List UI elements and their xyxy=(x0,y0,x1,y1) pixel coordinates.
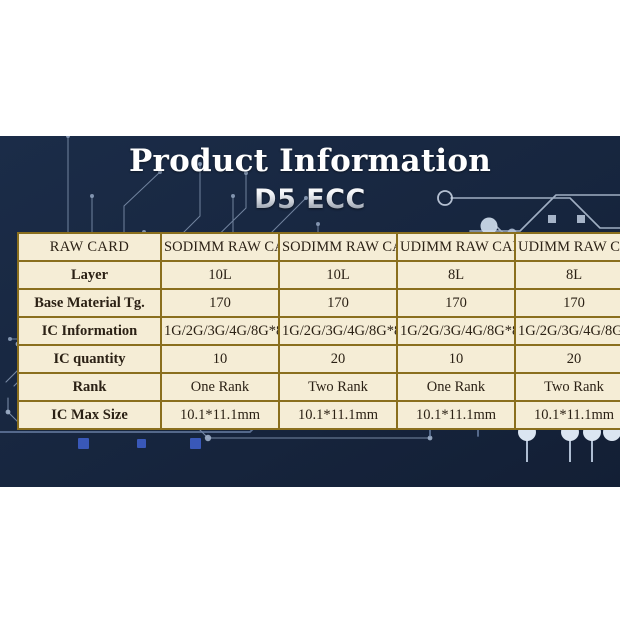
cell-rank-4: Two Rank xyxy=(516,374,620,402)
cell-ic-max-size-3: 10.1*11.1mm xyxy=(398,402,516,428)
screenshot-root: Product Information D5 ECC RAW CARD SODI… xyxy=(0,0,620,620)
cell-ic-info-1: 1G/2G/3G/4G/8G*8 xyxy=(162,318,280,346)
cell-tg-4: 170 xyxy=(516,290,620,318)
table-row: IC Information 1G/2G/3G/4G/8G*8 1G/2G/3G… xyxy=(19,318,620,346)
row-label-layer: Layer xyxy=(19,262,162,290)
cell-ic-info-3: 1G/2G/3G/4G/8G*8 xyxy=(398,318,516,346)
table-body: RAW CARD SODIMM RAW CARD D0 SODIMM RAW C… xyxy=(19,234,620,428)
cell-ic-info-2: 1G/2G/3G/4G/8G*8 xyxy=(280,318,398,346)
cell-ic-qty-2: 20 xyxy=(280,346,398,374)
cell-tg-2: 170 xyxy=(280,290,398,318)
table-header-row: RAW CARD SODIMM RAW CARD D0 SODIMM RAW C… xyxy=(19,234,620,262)
cell-layer-4: 8L xyxy=(516,262,620,290)
cell-rank-3: One Rank xyxy=(398,374,516,402)
table-row: IC quantity 10 20 10 20 xyxy=(19,346,620,374)
cell-ic-max-size-4: 10.1*11.1mm xyxy=(516,402,620,428)
product-spec-table: RAW CARD SODIMM RAW CARD D0 SODIMM RAW C… xyxy=(17,232,620,430)
row-label-rank: Rank xyxy=(19,374,162,402)
cell-ic-max-size-1: 10.1*11.1mm xyxy=(162,402,280,428)
cell-tg-1: 170 xyxy=(162,290,280,318)
cell-ic-qty-4: 20 xyxy=(516,346,620,374)
cell-layer-2: 10L xyxy=(280,262,398,290)
row-label-ic-quantity: IC quantity xyxy=(19,346,162,374)
table-row: IC Max Size 10.1*11.1mm 10.1*11.1mm 10.1… xyxy=(19,402,620,428)
row-label-base-material-tg: Base Material Tg. xyxy=(19,290,162,318)
column-header-2: SODIMM RAW CARD E0 xyxy=(280,234,398,262)
cell-tg-3: 170 xyxy=(398,290,516,318)
table-row: Layer 10L 10L 8L 8L xyxy=(19,262,620,290)
row-label-ic-information: IC Information xyxy=(19,318,162,346)
column-header-1: SODIMM RAW CARD D0 xyxy=(162,234,280,262)
cell-ic-info-4: 1G/2G/3G/4G/8G*8 xyxy=(516,318,620,346)
cell-ic-qty-1: 10 xyxy=(162,346,280,374)
column-header-3: UDIMM RAW CARD D0 xyxy=(398,234,516,262)
cell-rank-1: One Rank xyxy=(162,374,280,402)
cell-ic-qty-3: 10 xyxy=(398,346,516,374)
table-row: Rank One Rank Two Rank One Rank Two Rank xyxy=(19,374,620,402)
cell-ic-max-size-2: 10.1*11.1mm xyxy=(280,402,398,428)
table-row: Base Material Tg. 170 170 170 170 xyxy=(19,290,620,318)
column-header-4: UDIMM RAW CARD E0 xyxy=(516,234,620,262)
table-corner-label: RAW CARD xyxy=(19,234,162,262)
cell-rank-2: Two Rank xyxy=(280,374,398,402)
row-label-ic-max-size: IC Max Size xyxy=(19,402,162,428)
cell-layer-1: 10L xyxy=(162,262,280,290)
cell-layer-3: 8L xyxy=(398,262,516,290)
